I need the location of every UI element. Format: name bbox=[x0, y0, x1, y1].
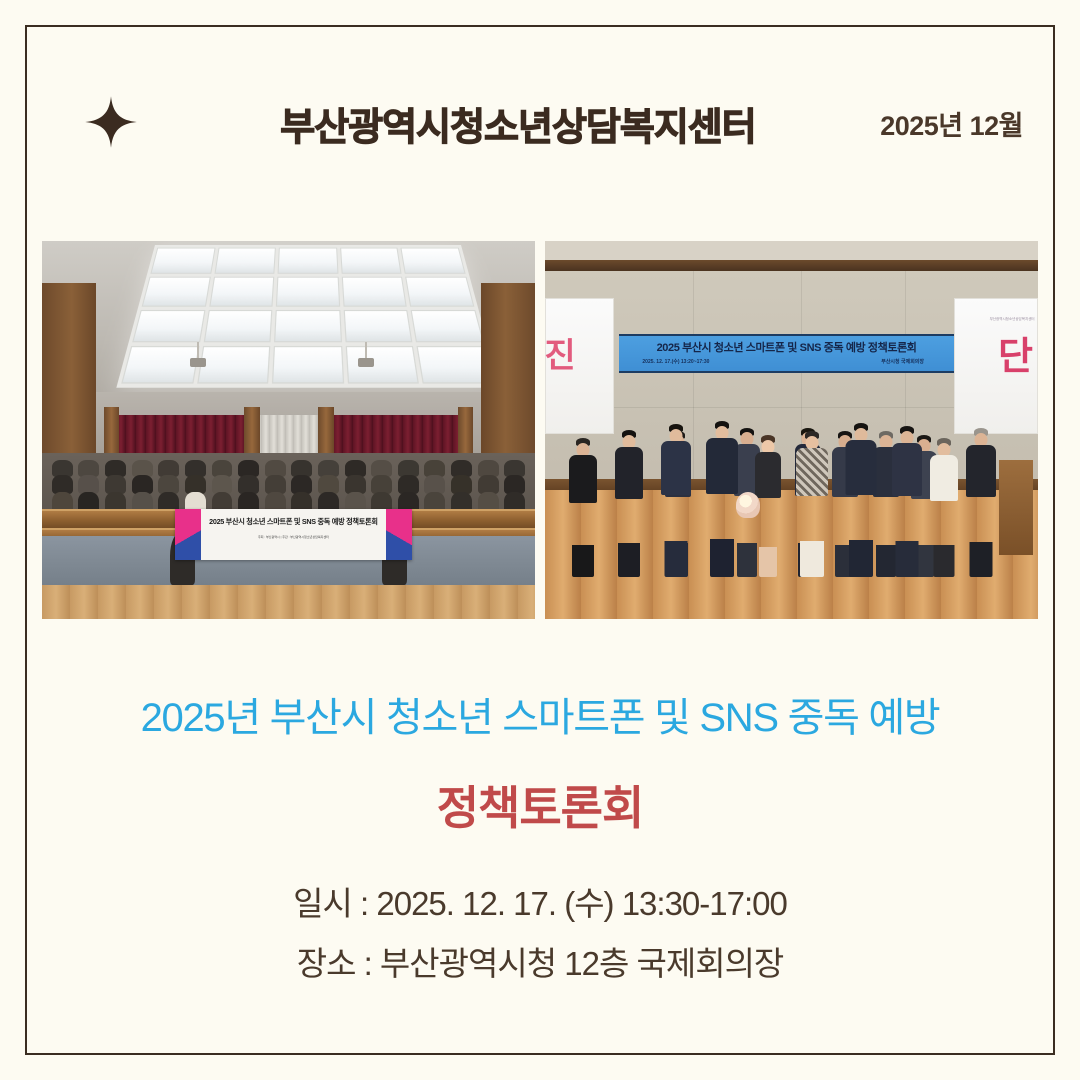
auditorium-audience-photo: 2025 부산시 청소년 스마트폰 및 SNS 중독 예방 정책토론회 주최 :… bbox=[42, 241, 535, 619]
stage-banner-date: 2025. 12. 17.(수) 13:20~17:30 bbox=[642, 358, 709, 365]
attendee bbox=[703, 421, 740, 577]
attendee bbox=[842, 423, 879, 578]
header-date: 2025년 12월 bbox=[880, 104, 1023, 143]
organization-title: 부산광역시청소년상담복지센터 bbox=[3, 96, 1033, 151]
attendee bbox=[611, 430, 648, 578]
screen-small-text: 부산광역시청소년상담복지센터 bbox=[990, 317, 1035, 322]
attendee bbox=[963, 428, 1000, 578]
ceiling-projector bbox=[358, 358, 374, 367]
wood-beam bbox=[545, 260, 1038, 271]
flower-bouquet bbox=[736, 492, 760, 518]
stage-banner-place: 부산시청 국제회의장 bbox=[881, 358, 924, 365]
attendee bbox=[889, 426, 926, 577]
poster-card: 부산광역시청소년상담복지센터 2025년 12월 bbox=[0, 0, 1080, 1080]
held-banner-subtext: 주최 : 부산광역시 | 주관 : 부산광역시청소년상담복지센터 bbox=[204, 535, 384, 539]
event-location: 장소 : 부산광역시청 12층 국제회의장 bbox=[0, 937, 1080, 985]
screen-glyph-right: 단 bbox=[998, 325, 1033, 380]
ceiling-projector bbox=[190, 358, 206, 367]
poster-header: 부산광역시청소년상담복지센터 2025년 12월 bbox=[25, 92, 1055, 154]
ceiling-skylight-panels bbox=[117, 245, 500, 387]
photo-gallery: 2025 부산시 청소년 스마트폰 및 SNS 중독 예방 정책토론회 주최 :… bbox=[42, 241, 1038, 619]
stage-banner: 2025 부산시 청소년 스마트폰 및 SNS 중독 예방 정책토론회 2025… bbox=[619, 334, 954, 374]
screen-glyph-left: 진 bbox=[545, 328, 576, 377]
wood-floor-foreground bbox=[42, 585, 535, 619]
attendee-center bbox=[791, 431, 833, 577]
attendee bbox=[564, 438, 601, 577]
group-photo-on-stage: 진 부산광역시청소년상담복지센터 단 2025 부산시 청소년 스마트폰 및 S… bbox=[545, 241, 1038, 619]
wood-wall-left bbox=[42, 283, 96, 464]
held-banner: 2025 부산시 청소년 스마트폰 및 SNS 중독 예방 정책토론회 주최 :… bbox=[175, 509, 412, 560]
event-sub-title: 정책토론회 bbox=[0, 772, 1080, 838]
event-main-title: 2025년 부산시 청소년 스마트폰 및 SNS 중독 예방 bbox=[0, 685, 1080, 743]
attendee bbox=[926, 438, 963, 577]
event-datetime: 일시 : 2025. 12. 17. (수) 13:30-17:00 bbox=[0, 877, 1080, 925]
held-banner-text: 2025 부산시 청소년 스마트폰 및 SNS 중독 예방 정책토론회 bbox=[204, 517, 384, 527]
wood-wall-right bbox=[481, 283, 535, 464]
stage-banner-title: 2025 부산시 청소년 스마트폰 및 SNS 중독 예방 정책토론회 bbox=[632, 339, 940, 355]
group-of-attendees bbox=[560, 404, 1023, 578]
attendee bbox=[657, 424, 694, 577]
